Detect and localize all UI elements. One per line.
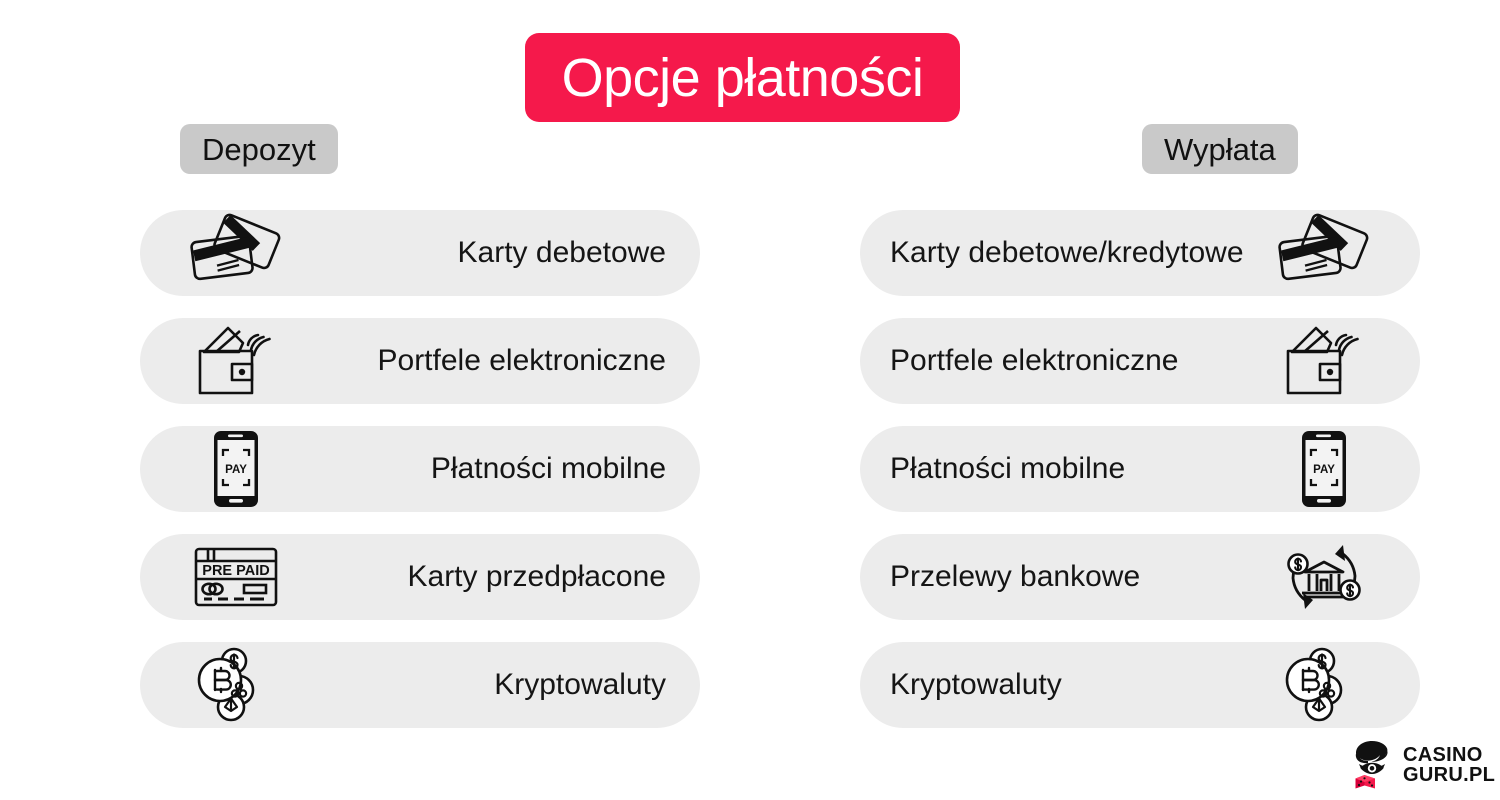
list-item[interactable]: Karty debetowe	[140, 210, 700, 296]
list-item[interactable]: Kryptowaluty	[140, 642, 700, 728]
cryptocurrency-icon	[184, 642, 288, 728]
list-item[interactable]: Karty debetowe/kredytowe	[860, 210, 1420, 296]
casino-guru-logo-text: CASINO GURU.PL	[1403, 745, 1495, 786]
payment-options-infographic: Opcje płatności Depozyt Wypłata	[0, 0, 1500, 800]
deposit-methods-list: Karty debetowe Portfele e	[140, 210, 700, 728]
mobile-pay-icon-text: PAY	[225, 464, 247, 476]
list-item-label: Karty przedpłacone	[288, 562, 700, 592]
list-item[interactable]: Portfele elektroniczne	[140, 318, 700, 404]
list-item[interactable]: PRE PAID Karty przedpłacone	[140, 534, 700, 620]
list-item-label: Portfele elektroniczne	[860, 346, 1272, 376]
page-title-badge: Opcje płatności	[525, 33, 960, 122]
mobile-pay-icon: PAY	[1272, 426, 1376, 512]
prepaid-card-icon-text: PRE PAID	[202, 563, 269, 579]
deposit-column-label: Depozyt	[202, 134, 316, 165]
withdrawal-methods-list: Karty debetowe/kredytowe	[860, 210, 1420, 728]
list-item[interactable]: PAY Płatności mobilne	[140, 426, 700, 512]
list-item[interactable]: PAY Płatności mobilne	[860, 426, 1420, 512]
logo-line-2: GURU.PL	[1403, 765, 1495, 785]
list-item-label: Przelewy bankowe	[860, 562, 1272, 592]
mobile-pay-icon: PAY	[184, 426, 288, 512]
logo-line-1: CASINO	[1403, 745, 1495, 765]
page-title: Opcje płatności	[562, 51, 924, 105]
list-item[interactable]: Portfele elektroniczne	[860, 318, 1420, 404]
list-item-label: Karty debetowe/kredytowe	[860, 238, 1272, 268]
list-item-label: Kryptowaluty	[288, 670, 700, 700]
list-item-label: Portfele elektroniczne	[288, 346, 700, 376]
e-wallet-icon	[184, 318, 288, 404]
list-item-label: Kryptowaluty	[860, 670, 1272, 700]
e-wallet-icon	[1272, 318, 1376, 404]
mobile-pay-icon-text: PAY	[1313, 464, 1335, 476]
credit-cards-icon	[1272, 210, 1376, 296]
casino-guru-head-dice-logo-icon	[1350, 740, 1394, 790]
list-item-label: Płatności mobilne	[288, 454, 700, 484]
cryptocurrency-icon	[1272, 642, 1376, 728]
withdrawal-column-header: Wypłata	[1142, 124, 1298, 174]
casino-guru-logo[interactable]: CASINO GURU.PL	[1350, 740, 1495, 790]
prepaid-card-icon: PRE PAID	[184, 534, 288, 620]
deposit-column-header: Depozyt	[180, 124, 338, 174]
withdrawal-column-label: Wypłata	[1164, 134, 1276, 165]
bank-transfer-icon	[1272, 534, 1376, 620]
credit-cards-icon	[184, 210, 288, 296]
list-item[interactable]: Kryptowaluty	[860, 642, 1420, 728]
list-item-label: Płatności mobilne	[860, 454, 1272, 484]
list-item[interactable]: Przelewy bankowe	[860, 534, 1420, 620]
list-item-label: Karty debetowe	[288, 238, 700, 268]
